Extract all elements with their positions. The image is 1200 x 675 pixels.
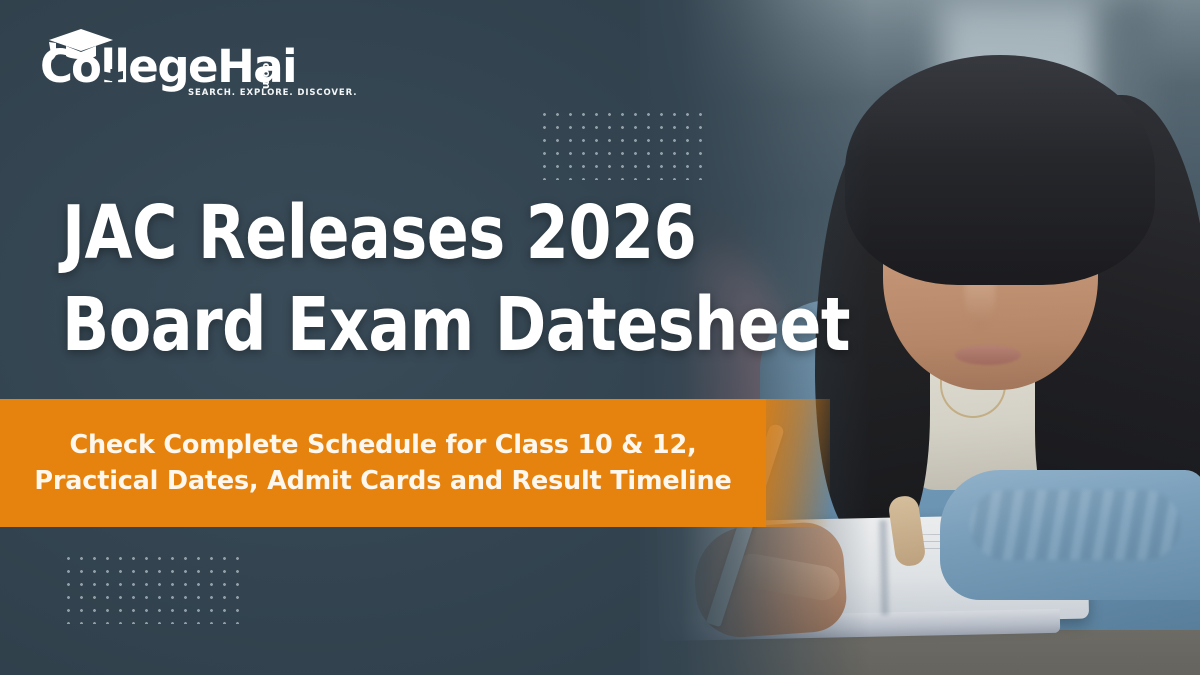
page-title: JAC Releases 2026 Board Exam Datesheet (62, 196, 762, 380)
subtitle-text-group: Check Complete Schedule for Class 10 & 1… (0, 399, 766, 527)
logo-text-ollege: ollege (71, 40, 217, 93)
promo-banner: CollegeHai .com SEARCH. EXPLORE. DISCOVE… (0, 0, 1200, 675)
collegehai-logo[interactable]: CollegeHai .com SEARCH. EXPLORE. DISCOVE… (40, 28, 290, 104)
dot-grid-top (538, 108, 708, 180)
subtitle-line-2: Practical Dates, Admit Cards and Result … (34, 466, 731, 496)
logo-wordmark: CollegeHai (40, 44, 296, 89)
logo-text-hai: Hai (217, 40, 296, 93)
logo-letter-c: C (40, 40, 71, 93)
headline-line-1: JAC Releases 2026 (62, 196, 713, 270)
dot-grid-bottom (62, 552, 245, 624)
subtitle-line-1: Check Complete Schedule for Class 10 & 1… (69, 430, 696, 460)
logo-domain-suffix: .com (260, 58, 273, 90)
open-book-icon (100, 68, 124, 82)
logo-tagline: SEARCH. EXPLORE. DISCOVER. (188, 88, 357, 98)
headline-line-2: Board Exam Datesheet (62, 288, 713, 362)
